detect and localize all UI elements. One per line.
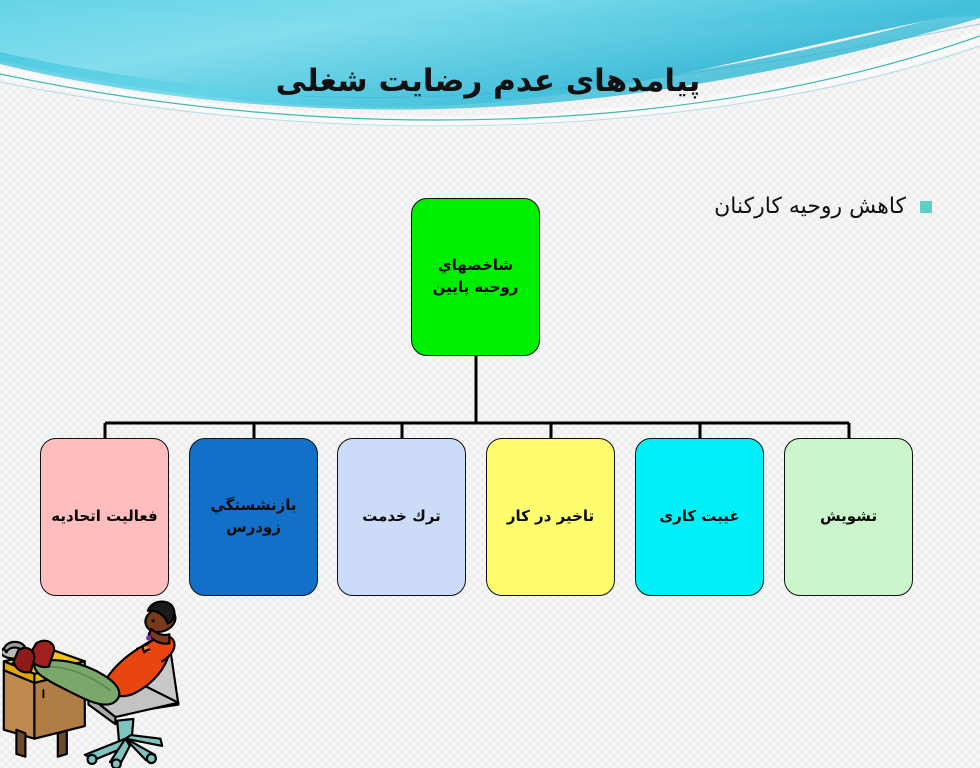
org-node-child-6[interactable]: تشویش bbox=[784, 438, 913, 596]
org-node-child-5[interactable]: غیبت کاری bbox=[635, 438, 764, 596]
square-bullet-icon bbox=[920, 201, 932, 213]
org-node-child-1-label: فعالیت اتحادیه bbox=[51, 506, 157, 528]
worker-relaxing-clipart bbox=[2, 596, 218, 768]
org-node-child-4-label: تاخیر در کار bbox=[507, 506, 594, 528]
org-node-child-3[interactable]: ترك خدمت bbox=[337, 438, 466, 596]
org-node-child-2-label: بازنشستگي زودرس bbox=[210, 495, 296, 539]
org-node-root-label: شاخصهاي روحیه پایین bbox=[433, 255, 519, 299]
org-node-child-4[interactable]: تاخیر در کار bbox=[486, 438, 615, 596]
org-node-root[interactable]: شاخصهاي روحیه پایین bbox=[411, 198, 540, 356]
slide-title: پیامدهای عدم رضایت شغلی bbox=[258, 62, 718, 101]
org-node-child-2[interactable]: بازنشستگي زودرس bbox=[189, 438, 318, 596]
org-node-child-3-label: ترك خدمت bbox=[362, 506, 441, 528]
bullet-item-label: کاهش روحیه کارکنان bbox=[714, 194, 906, 219]
org-node-child-6-label: تشویش bbox=[820, 506, 877, 528]
bullet-item: کاهش روحیه کارکنان bbox=[714, 194, 932, 219]
org-node-child-1[interactable]: فعالیت اتحادیه bbox=[40, 438, 169, 596]
org-node-child-5-label: غیبت کاری bbox=[659, 506, 739, 528]
